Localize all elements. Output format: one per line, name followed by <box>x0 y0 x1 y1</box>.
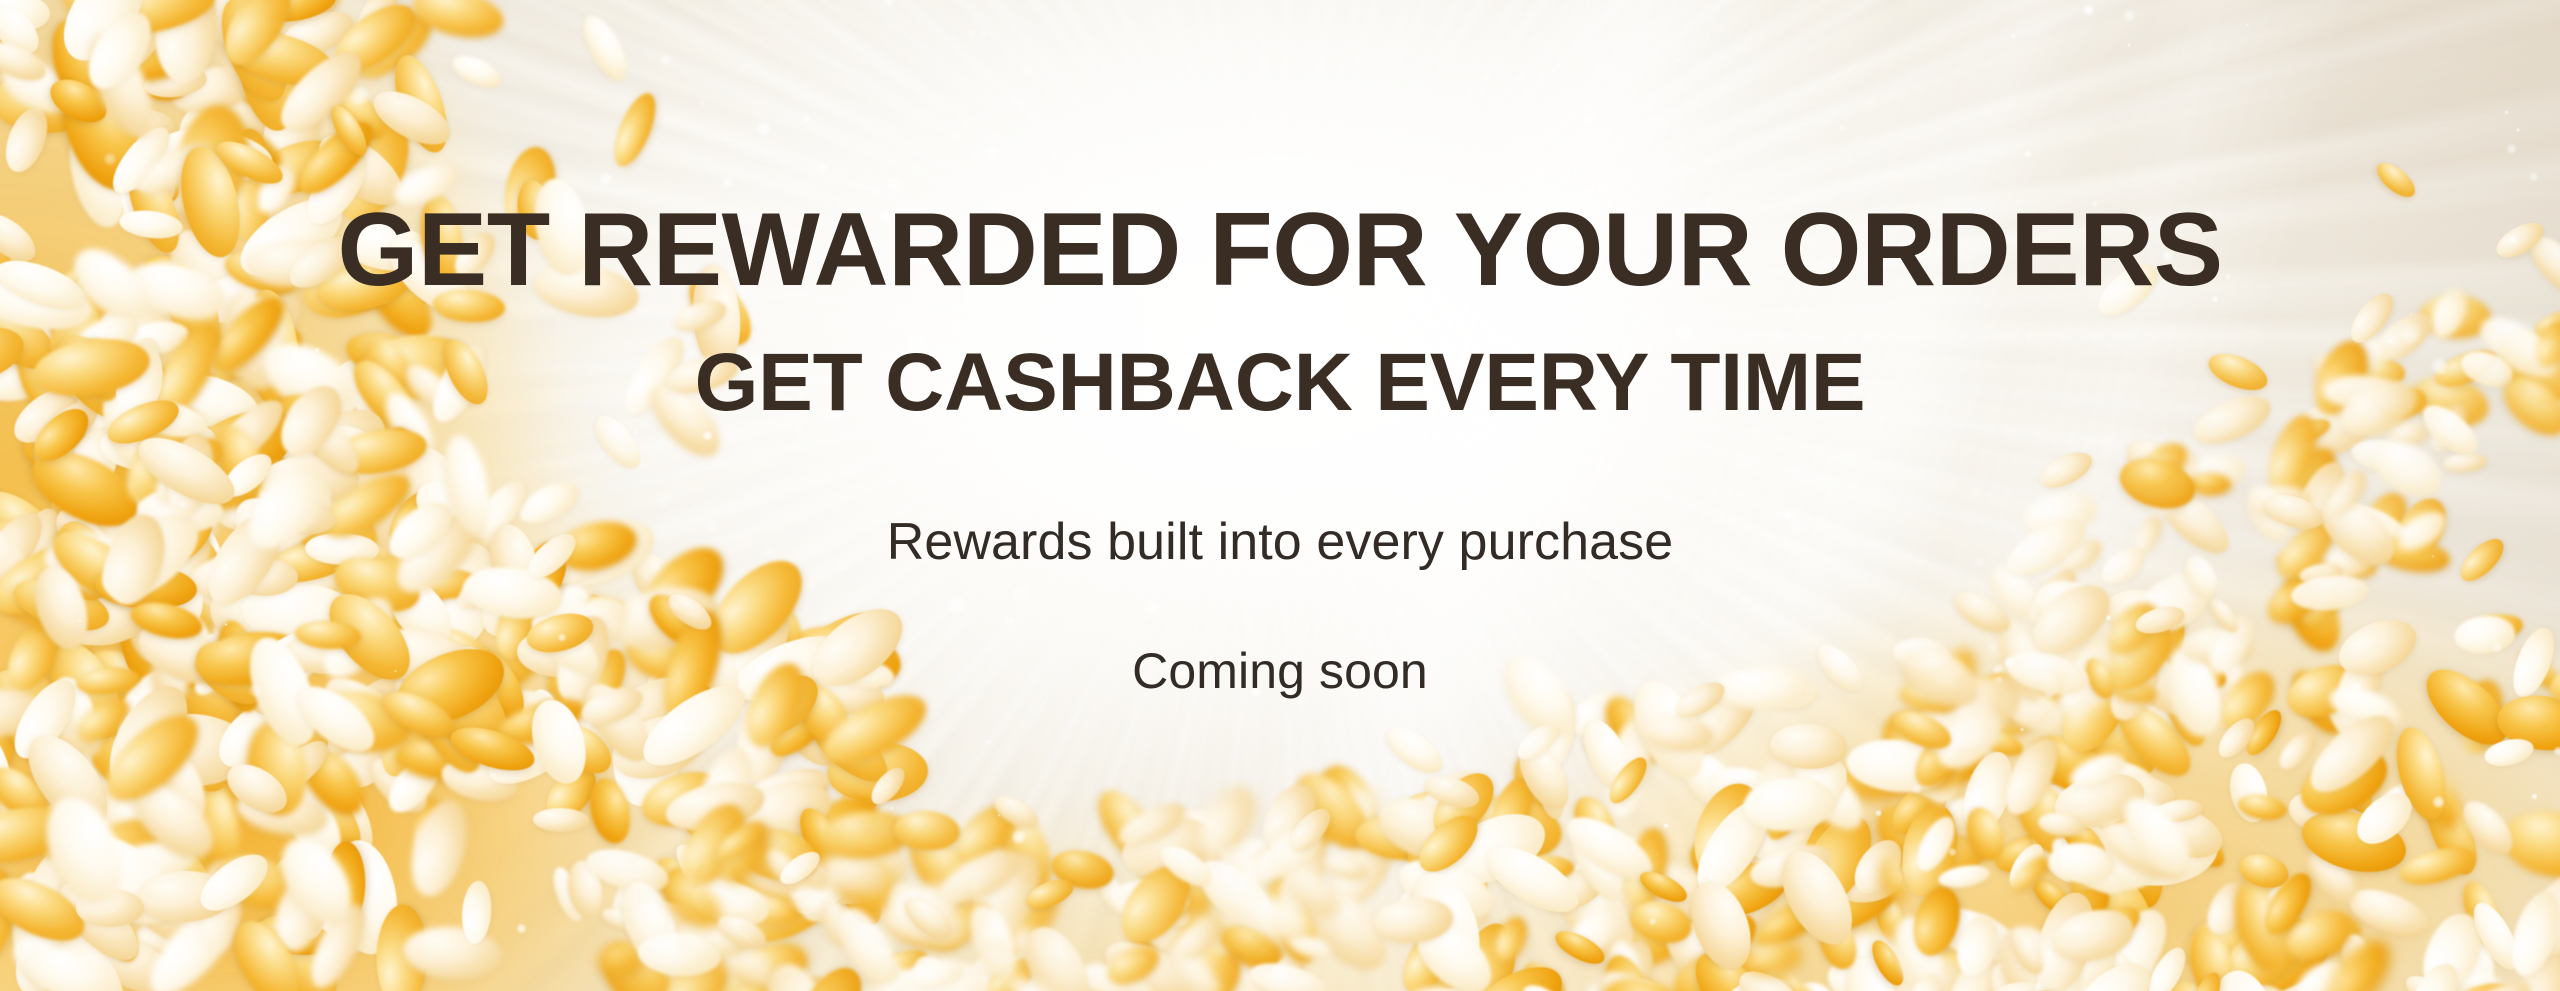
sparkle <box>314 347 320 353</box>
sparkle <box>2003 656 2016 669</box>
sparkle <box>1209 24 1212 27</box>
sparkle <box>1299 202 1310 213</box>
sparkle <box>2432 795 2445 808</box>
sparkle <box>1307 570 1312 575</box>
sparkle <box>1995 675 2003 683</box>
sparkle <box>1195 496 1204 505</box>
sparkle <box>721 176 734 189</box>
sparkle <box>1677 58 1682 63</box>
sparkle <box>2516 128 2520 132</box>
sparkle <box>1194 526 1199 531</box>
sparkle <box>764 546 775 557</box>
sparkle <box>1875 809 1882 816</box>
sparkle <box>954 27 956 29</box>
sparkle <box>947 595 967 615</box>
sparkle <box>1985 603 1988 606</box>
sparkle <box>2540 254 2542 256</box>
sparkle <box>1434 421 1438 425</box>
sparkle <box>1381 666 1398 683</box>
sparkle <box>1786 512 1802 528</box>
sparkle <box>2161 249 2174 262</box>
sparkle <box>1563 297 1568 302</box>
sparkle <box>1022 234 1037 249</box>
sparkle <box>693 503 696 506</box>
sparkle <box>2105 615 2112 622</box>
sparkle <box>1012 584 1031 603</box>
sparkle <box>758 388 774 404</box>
sparkle <box>1122 347 1129 354</box>
sparkle <box>1745 354 1755 364</box>
sparkle <box>2211 296 2219 304</box>
sparkle <box>755 120 772 137</box>
sparkle <box>394 669 397 672</box>
sparkle <box>1505 511 1512 518</box>
sparkle <box>835 557 849 571</box>
sparkle <box>1663 823 1668 828</box>
sparkle <box>782 395 795 408</box>
sparkle <box>1652 453 1655 456</box>
sparkle <box>1250 685 1263 698</box>
sparkle <box>802 114 811 123</box>
sparkle <box>1147 602 1160 615</box>
sparkle <box>2361 499 2363 501</box>
sparkle <box>967 29 977 39</box>
sparkle <box>2091 200 2098 207</box>
sparkle <box>1471 428 1480 437</box>
sparkle <box>793 424 805 436</box>
sparkle <box>1948 847 1957 856</box>
sparkle <box>557 633 567 643</box>
sparkle <box>2553 746 2560 756</box>
sparkle <box>2024 150 2032 158</box>
sparkle <box>2083 860 2087 864</box>
sparkle <box>1547 424 1559 436</box>
sparkle <box>2020 727 2024 731</box>
sparkle <box>367 268 371 272</box>
sparkle <box>987 498 990 501</box>
sparkle <box>1838 124 1846 132</box>
sparkle <box>1575 521 1578 524</box>
sparkle <box>1648 917 1657 926</box>
sparkle <box>698 99 707 108</box>
sparkle <box>1824 540 1830 546</box>
sparkle <box>926 283 929 286</box>
sparkle <box>2504 110 2509 115</box>
sparkle <box>248 683 263 698</box>
sparkle <box>879 210 893 224</box>
sparkle <box>282 363 293 374</box>
sparkle <box>670 600 680 610</box>
sparkle <box>2491 641 2504 654</box>
sparkle <box>2351 681 2362 692</box>
sparkle <box>817 161 829 173</box>
sparkle <box>1589 326 1593 330</box>
sparkle <box>1193 698 1196 701</box>
sparkle <box>2164 430 2166 432</box>
sparkle <box>659 53 672 66</box>
sparkle <box>1558 306 1568 316</box>
sparkle <box>350 85 371 106</box>
sparkle <box>745 935 749 939</box>
sparkle <box>633 430 639 436</box>
sparkle <box>1959 632 1962 635</box>
sparkle <box>655 491 673 509</box>
sparkle <box>180 501 187 508</box>
sparkle <box>224 623 227 626</box>
sparkle <box>1569 320 1571 322</box>
sparkle <box>1281 225 1283 227</box>
sparkle <box>1582 112 1596 126</box>
sparkle <box>588 54 590 56</box>
sparkle <box>1011 829 1027 845</box>
sparkle <box>103 152 117 166</box>
sparkle <box>1192 278 1200 286</box>
sparkle <box>2409 313 2412 316</box>
sparkle <box>2157 267 2162 272</box>
sparkle <box>2531 793 2538 800</box>
sparkle <box>1377 327 1391 341</box>
sparkle <box>1632 644 1639 651</box>
sparkle <box>2039 958 2045 964</box>
sparkle <box>2011 33 2016 38</box>
sparkle <box>1911 783 1922 794</box>
sparkle <box>1638 309 1649 320</box>
sparkle <box>1572 410 1575 413</box>
sparkle <box>2041 246 2045 250</box>
sparkle <box>797 392 803 398</box>
sparkle <box>1306 448 1315 457</box>
sparkle <box>2509 236 2518 245</box>
sparkle <box>2082 4 2096 18</box>
sparkle <box>1049 151 1057 159</box>
sparkle <box>912 616 915 619</box>
sparkle <box>1022 65 1034 77</box>
sparkle <box>702 430 713 441</box>
sparkle <box>1272 577 1275 580</box>
sparkle <box>1833 587 1836 590</box>
sparkle <box>887 511 890 514</box>
sparkle <box>1675 324 1695 344</box>
sparkle <box>598 172 613 187</box>
sparkle <box>1223 175 1230 182</box>
sparkle <box>1632 534 1638 540</box>
sparkle <box>863 185 869 191</box>
sparkle <box>906 332 929 355</box>
promotional-banner: GET REWARDED FOR YOUR ORDERS GET CASHBAC… <box>0 0 2560 991</box>
sparkle <box>2203 210 2213 220</box>
sparkle <box>2388 339 2393 344</box>
sparkle <box>2506 143 2517 154</box>
sparkle <box>882 0 896 8</box>
sparkle <box>2122 8 2137 23</box>
sparkle <box>2127 43 2131 47</box>
sparkle <box>1723 764 1725 766</box>
sparkle <box>1531 110 1535 114</box>
sparkle <box>78 619 81 622</box>
sparkle <box>629 877 632 880</box>
sparkle <box>2430 357 2449 376</box>
sparkle <box>980 30 987 37</box>
sparkle <box>704 518 719 533</box>
sparkle <box>1545 453 1561 469</box>
sparkle <box>969 627 972 630</box>
sparkle <box>122 281 125 284</box>
sparkle <box>1148 287 1154 293</box>
sparkle <box>2246 23 2249 26</box>
sparkle <box>1151 439 1153 441</box>
sparkle-layer <box>0 0 2560 991</box>
sparkle <box>986 739 990 743</box>
sparkle <box>728 273 734 279</box>
sparkle <box>516 923 527 934</box>
sparkle <box>2225 273 2231 279</box>
sparkle <box>1112 181 1121 190</box>
sparkle <box>2431 555 2435 559</box>
sparkle <box>2399 323 2422 346</box>
sparkle <box>2498 328 2501 331</box>
sparkle <box>986 145 998 157</box>
sparkle <box>1171 660 1189 678</box>
sparkle <box>885 176 903 194</box>
sparkle <box>1974 556 1986 568</box>
sparkle <box>2528 172 2539 183</box>
sparkle <box>1005 616 1015 626</box>
sparkle <box>889 806 894 811</box>
sparkle <box>998 814 1000 816</box>
